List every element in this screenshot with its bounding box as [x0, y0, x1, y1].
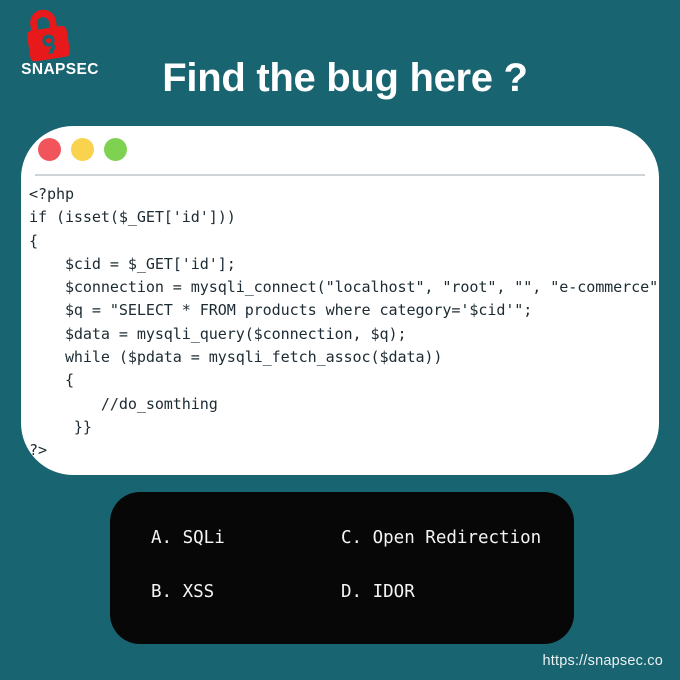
quiz-option-a[interactable]: A. SQLi	[151, 523, 341, 553]
page-title: Find the bug here ?	[110, 56, 580, 101]
window-controls	[38, 138, 127, 161]
brand-name: SNAPSEC	[14, 61, 106, 79]
window-divider	[35, 174, 645, 176]
brand-logo: SNAPSEC	[12, 6, 108, 86]
maximize-dot[interactable]	[104, 138, 127, 161]
footer-url[interactable]: https://snapsec.co	[543, 653, 663, 669]
padlock-search-icon	[18, 6, 80, 62]
quiz-options-panel: A. SQLi C. Open Redirection B. XSS D. ID…	[110, 492, 574, 644]
code-window-card: <?php if (isset($_GET['id'])) { $cid = $…	[21, 126, 659, 475]
close-dot[interactable]	[38, 138, 61, 161]
quiz-option-d[interactable]: D. IDOR	[341, 577, 415, 607]
quiz-option-b[interactable]: B. XSS	[151, 577, 341, 607]
poster-canvas: SNAPSEC Find the bug here ? <?php if (is…	[0, 0, 680, 680]
option-row: A. SQLi C. Open Redirection	[110, 523, 574, 553]
option-row: B. XSS D. IDOR	[110, 577, 574, 607]
quiz-option-c[interactable]: C. Open Redirection	[341, 523, 541, 553]
minimize-dot[interactable]	[71, 138, 94, 161]
code-snippet: <?php if (isset($_GET['id'])) { $cid = $…	[29, 183, 653, 463]
